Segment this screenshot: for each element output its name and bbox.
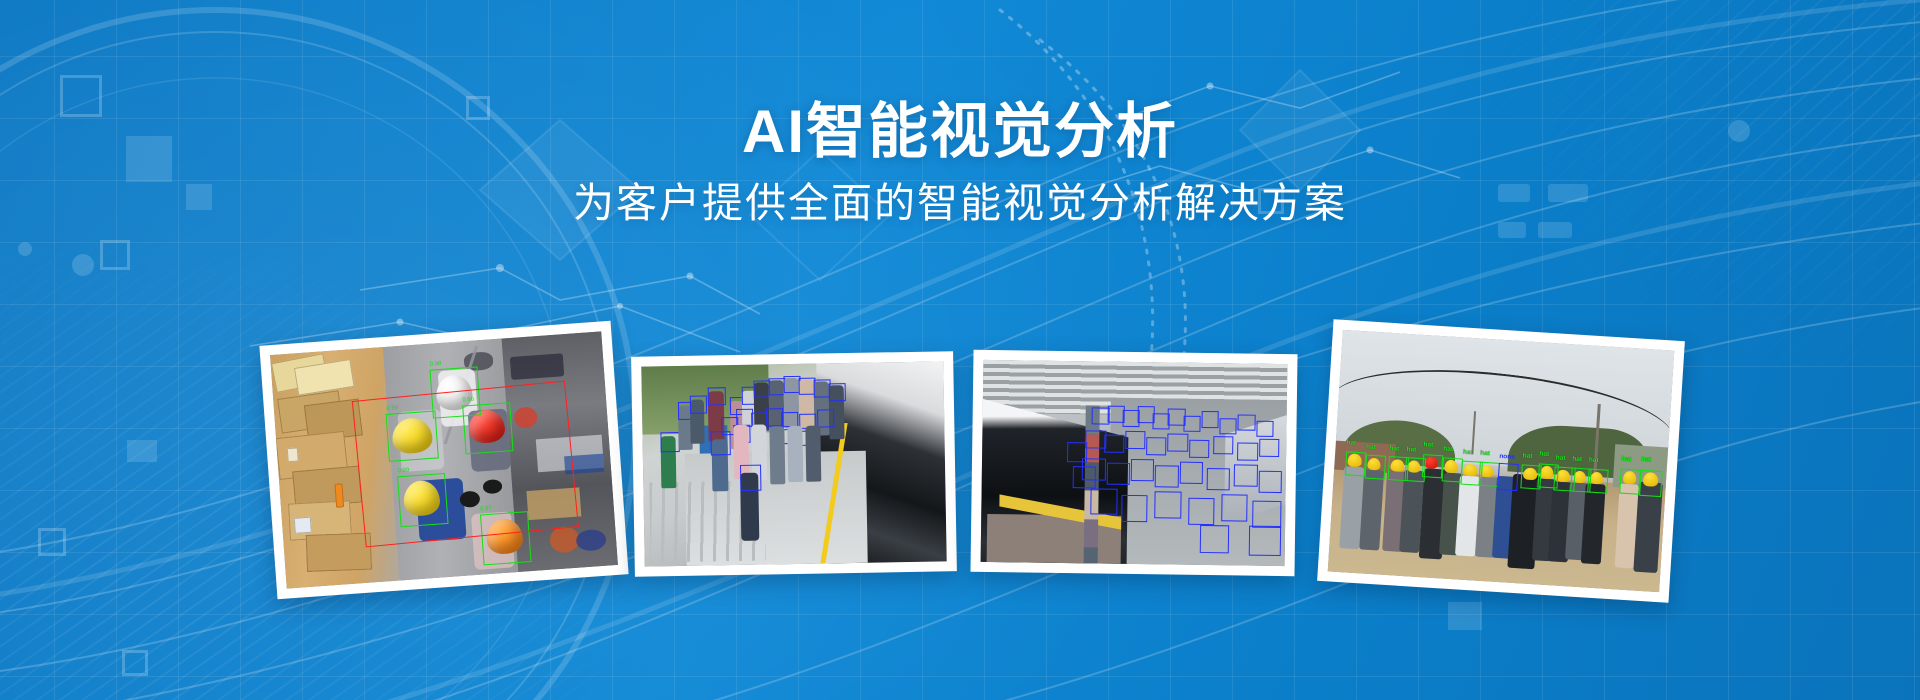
detection-box: [1259, 438, 1279, 456]
scene-station: [981, 360, 1288, 566]
decor-square-outline: [122, 650, 148, 676]
detection-box: [1183, 415, 1200, 431]
gallery-photo-frame[interactable]: [631, 351, 957, 577]
detection-photo-hat: hat hat hat hat hat hat hat hat: [1328, 330, 1675, 592]
detection-box: [1121, 495, 1148, 522]
detection-label: hat: [1621, 456, 1631, 463]
detection-box: [1213, 436, 1233, 454]
detection-label: hat: [1555, 455, 1565, 462]
detection-photo-helmet: 0.98 0.99 0.96 0.99 0.97: [270, 331, 618, 588]
detection-box: [1179, 462, 1203, 485]
detection-box: [1168, 433, 1188, 451]
decor-square-outline: [100, 240, 130, 270]
detection-box: [1221, 495, 1248, 522]
detection-box: [1344, 451, 1366, 476]
detection-box: [1238, 414, 1255, 430]
detection-label: hat: [1366, 445, 1376, 452]
detection-box: [1421, 454, 1443, 479]
detection-box: [1256, 420, 1273, 436]
detection-label: hat: [1480, 451, 1490, 458]
detection-box: [1189, 440, 1209, 458]
detection-label: hat: [1522, 453, 1532, 460]
detection-photo-head: [641, 361, 946, 566]
detection-label: hat: [1423, 443, 1433, 450]
gallery-photo-frame[interactable]: hat hat hat hat hat hat hat hat: [1317, 319, 1685, 603]
showcase-gallery: 0.98 0.99 0.96 0.99 0.97: [0, 322, 1920, 622]
detection-box: [690, 396, 707, 414]
detection-label: hat: [1572, 456, 1582, 463]
detection-label: hat: [1463, 450, 1473, 457]
banner-copy: AI智能视觉分析 为客户提供全面的智能视觉分析解决方案: [0, 0, 1920, 228]
detection-box: [1091, 489, 1118, 516]
detection-box: [1207, 468, 1231, 491]
detection-box: [740, 465, 762, 491]
detection-box: [1587, 469, 1609, 494]
detection-label: hat: [1589, 457, 1599, 464]
detection-box: [1252, 501, 1282, 528]
detection-photo-crowd: [981, 360, 1288, 566]
detection-box: [1364, 455, 1386, 480]
ai-vision-banner: AI智能视觉分析 为客户提供全面的智能视觉分析解决方案: [0, 0, 1920, 700]
detection-box-none: [1497, 463, 1519, 490]
gallery-photo-frame[interactable]: 0.98 0.99 0.96 0.99 0.97: [259, 321, 628, 600]
detection-box: [1441, 457, 1463, 482]
detection-label: hat: [1443, 446, 1453, 453]
decor-circle: [18, 242, 32, 256]
detection-box: [1146, 437, 1166, 455]
detection-box: [1248, 525, 1281, 556]
detection-box: [1237, 442, 1257, 460]
detection-box: [1200, 525, 1230, 554]
detection-box: [817, 409, 834, 427]
detection-box: [1155, 465, 1179, 488]
detection-box: [1220, 418, 1237, 434]
detection-label: hat: [1406, 447, 1416, 454]
detection-box: [1125, 431, 1145, 449]
decor-circle: [72, 254, 94, 276]
detection-box: [1201, 411, 1218, 427]
scene-outdoor-site: hat hat hat hat hat hat hat hat: [1328, 330, 1675, 592]
detection-box: [1188, 498, 1215, 525]
detection-box: [1131, 459, 1155, 482]
scene-platform: [641, 361, 946, 566]
detection-box: [1258, 471, 1282, 494]
detection-box: [1106, 463, 1130, 486]
scene-warehouse: 0.98 0.99 0.96 0.99 0.97: [270, 331, 618, 588]
detection-box: [1155, 492, 1182, 519]
detection-label: hat: [1389, 445, 1399, 452]
detection-label: hat: [1539, 452, 1549, 459]
detection-box: [1639, 470, 1663, 498]
page-title: AI智能视觉分析: [0, 0, 1920, 165]
detection-box: [1619, 469, 1641, 495]
detection-box: [1234, 464, 1258, 487]
detection-label: hat: [1346, 440, 1356, 447]
detection-box: [1067, 442, 1088, 462]
detection-box: [708, 387, 725, 405]
detection-label: hat: [1641, 457, 1651, 464]
gallery-photo-frame[interactable]: [970, 350, 1297, 577]
detection-box: [661, 432, 680, 452]
detection-box: [829, 383, 846, 401]
roi-polygon: [351, 381, 579, 548]
page-subtitle: 为客户提供全面的智能视觉分析解决方案: [0, 179, 1920, 228]
detection-label-none: none: [1499, 454, 1515, 461]
detection-box: [1073, 466, 1097, 489]
detection-box: [1104, 434, 1124, 452]
